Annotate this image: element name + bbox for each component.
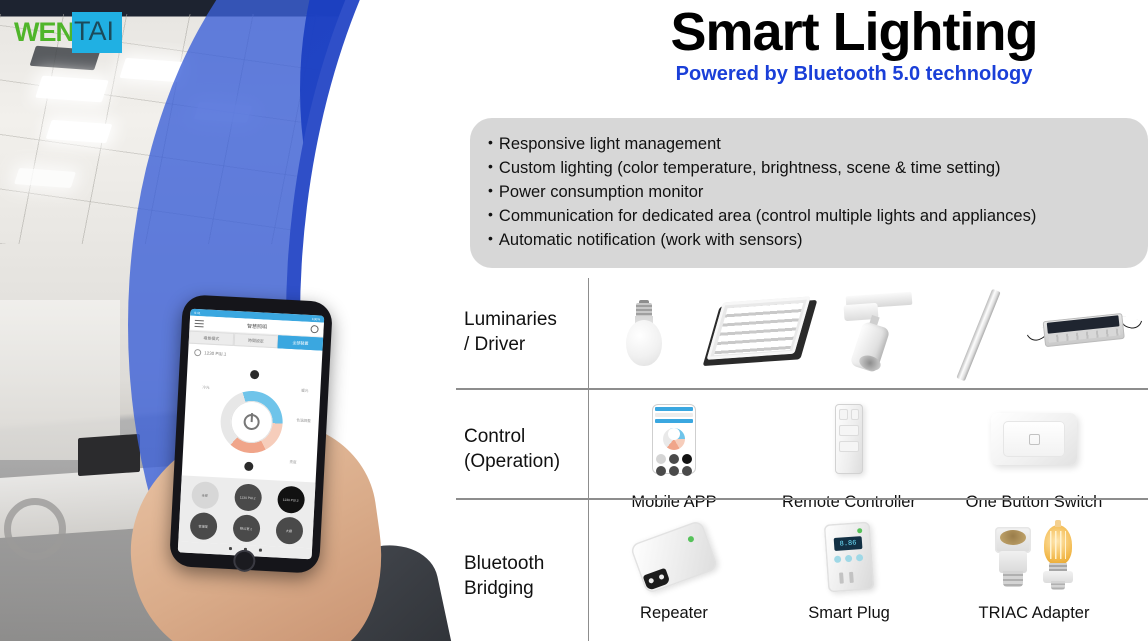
bullet-icon: • [488,228,493,250]
repeater-icon [636,512,712,601]
device-button-5[interactable]: 辦公室 2 [232,514,260,542]
feature-item: • Communication for dedicated area (cont… [488,204,1132,228]
gear-icon[interactable] [310,325,318,333]
product-triac-adapter: TRIAC Adapter [939,512,1129,641]
feature-text: Power consumption monitor [499,180,704,204]
product-led-bulb [589,300,699,366]
dial-inner [230,399,274,443]
product-linear-strip [933,289,1025,377]
dial-label-temp: 色溫調整 [296,418,311,424]
product-caption: Smart Plug [808,604,890,623]
page-subtitle: Powered by Bluetooth 5.0 technology [560,63,1148,86]
product-smart-plug: 8.86 Smart Plug [759,512,939,641]
logo-text-wen: WEN [14,19,74,46]
logo-text-tai: TAI [74,16,114,46]
row-label-line2: (Operation) [464,451,560,472]
product-track-spotlight [821,294,933,372]
title-block: Smart Lighting Powered by Bluetooth 5.0 … [560,4,1148,86]
product-caption: TRIAC Adapter [979,604,1090,623]
row-label-line1: Bluetooth [464,553,544,574]
row-label-line2: Bridging [464,578,534,599]
device-button-6[interactable]: 大廳 [275,516,303,544]
app-title: 智慧照明 [247,322,267,330]
smart-plug-icon: 8.86 [826,512,872,601]
status-time: 9:41 [194,310,200,314]
row-cells-luminaries [588,278,1148,388]
bulb-icon [194,349,201,356]
device-button-3[interactable]: 1230 РШ.3 [276,485,304,513]
desk-monitor [78,434,140,476]
product-caption: Repeater [640,604,708,623]
remote-controller-icon [835,388,863,490]
product-remote-controller: Remote Controller [759,388,939,512]
led-bulb-icon [626,300,662,366]
led-panel-icon [711,304,809,362]
dial-knob-bottom[interactable] [244,462,253,471]
brightness-dial-area[interactable]: 冷光 暖光 色溫調整 亮度 [182,361,322,483]
product-one-button-switch: One Button Switch [939,388,1129,512]
feature-item: • Automatic notification (work with sens… [488,228,1132,252]
app-device-grid: 全部 1230 РШ.2 1230 РШ.3 會議室 辦公室 2 大廳 [178,475,315,548]
color-temperature-dial[interactable] [219,389,284,454]
one-button-switch-icon [991,388,1077,490]
table-row-control: Control (Operation) Mobile APP [456,388,1148,512]
product-repeater: Repeater [589,512,759,641]
wentai-logo: WEN TAI [14,12,122,53]
bullet-icon: • [488,132,493,154]
feature-item: • Custom lighting (color temperature, br… [488,156,1132,180]
dial-label-brightness: 亮度 [289,460,296,465]
device-button-all[interactable]: 全部 [191,481,219,509]
home-button[interactable] [233,549,256,572]
led-driver-icon [1036,311,1132,355]
row-label-line1: Control [464,426,525,447]
row-label-luminaries: Luminaries / Driver [456,278,588,388]
feature-item: • Power consumption monitor [488,180,1132,204]
triac-adapter-icon [993,512,1075,601]
page-title: Smart Lighting [560,4,1148,61]
track-spotlight-icon [840,294,914,372]
app-device-name: 1230 РШ.1 [204,350,226,356]
product-category-table: Luminaries / Driver [456,278,1148,641]
row-label-line2: / Driver [464,334,525,355]
feature-text: Responsive light management [499,132,721,156]
hero-photo-panel: 9:41 100% 智慧照明 場景模式 時間設定 全部裝置 1230 РШ.1 … [0,0,500,641]
product-led-panel [699,304,821,362]
dial-label-warm: 暖光 [301,389,308,394]
dial-knob-top[interactable] [250,370,259,379]
row-label-control: Control (Operation) [456,388,588,512]
device-button-4[interactable]: 會議室 [189,512,217,540]
row-label-line1: Luminaries [464,309,557,330]
table-row-luminaries: Luminaries / Driver [456,278,1148,388]
office-chair [4,498,66,560]
smartphone-device: 9:41 100% 智慧照明 場景模式 時間設定 全部裝置 1230 РШ.1 … [169,294,333,573]
row-label-bluetooth: Bluetooth Bridging [456,512,588,641]
features-panel: • Responsive light management • Custom l… [470,118,1148,268]
mobile-app-icon [652,388,696,490]
device-button-2[interactable]: 1230 РШ.2 [233,483,261,511]
status-battery: 100% [312,317,320,321]
bullet-icon: • [488,180,493,202]
product-caption: Remote Controller [782,493,916,512]
logo-cyan-square: TAI [72,12,122,53]
product-led-driver [1025,311,1143,355]
product-caption: Mobile APP [631,493,716,512]
phone-screen: 9:41 100% 智慧照明 場景模式 時間設定 全部裝置 1230 РШ.1 … [178,309,325,560]
menu-icon[interactable] [195,319,204,326]
dial-label-cool: 冷光 [202,385,209,390]
bullet-icon: • [488,156,493,178]
table-divider [456,498,1148,500]
feature-text: Communication for dedicated area (contro… [499,204,1036,228]
linear-led-strip-icon [946,289,1012,377]
ceiling-light-panel [35,76,109,103]
table-row-bluetooth: Bluetooth Bridging Repeater 8.86 Smart P… [456,512,1148,641]
product-caption: One Button Switch [966,493,1103,512]
feature-text: Automatic notification (work with sensor… [499,228,803,252]
row-cells-bluetooth: Repeater 8.86 Smart Plug TRIAC Adapter [588,512,1148,641]
product-mobile-app: Mobile APP [589,388,759,512]
feature-text: Custom lighting (color temperature, brig… [499,156,1001,180]
feature-item: • Responsive light management [488,132,1132,156]
power-icon[interactable] [243,413,260,430]
bullet-icon: • [488,204,493,226]
row-cells-control: Mobile APP Remote Controller One Button … [588,388,1148,512]
